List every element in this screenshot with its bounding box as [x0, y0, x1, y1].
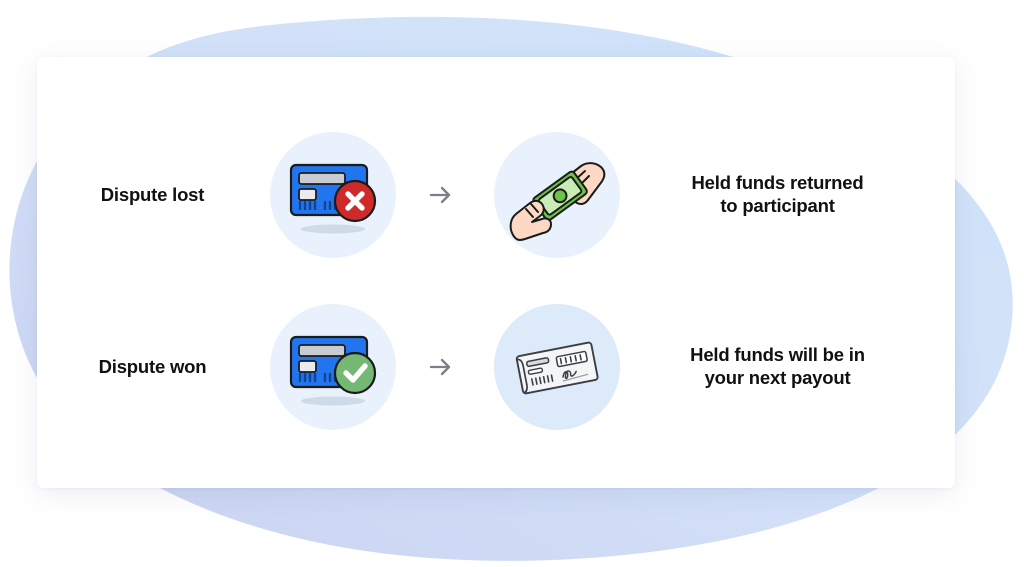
result-line-1: Held funds will be in [620, 344, 935, 367]
status-icon-medallion [270, 132, 396, 258]
content-card-panel: Dispute lost [37, 57, 955, 488]
credit-card-success-icon [277, 311, 389, 423]
dispute-result-text: Held funds will be in your next payout [620, 344, 955, 390]
result-icon-medallion [494, 132, 620, 258]
result-line-2: to participant [620, 195, 935, 218]
credit-card-error-icon [277, 139, 389, 251]
flow-row: Dispute won [37, 287, 955, 447]
screenshot-stage: Dispute lost [0, 0, 1024, 567]
arrow-right-icon [428, 184, 454, 206]
flow-arrow-cell [396, 184, 486, 206]
hand-exchanging-money-icon [505, 143, 609, 247]
flow-row: Dispute lost [37, 115, 955, 275]
dispute-status-label: Dispute lost [37, 184, 262, 206]
result-line-1: Held funds returned [620, 172, 935, 195]
flow-arrow-cell [396, 356, 486, 378]
dispute-status-label: Dispute won [37, 356, 262, 378]
result-line-2: your next payout [620, 367, 935, 390]
status-icon-medallion [270, 304, 396, 430]
result-icon-medallion [494, 304, 620, 430]
arrow-right-icon [428, 356, 454, 378]
flow-rows: Dispute lost [37, 57, 955, 488]
paper-check-icon [506, 316, 608, 418]
dispute-result-text: Held funds returned to participant [620, 172, 955, 218]
